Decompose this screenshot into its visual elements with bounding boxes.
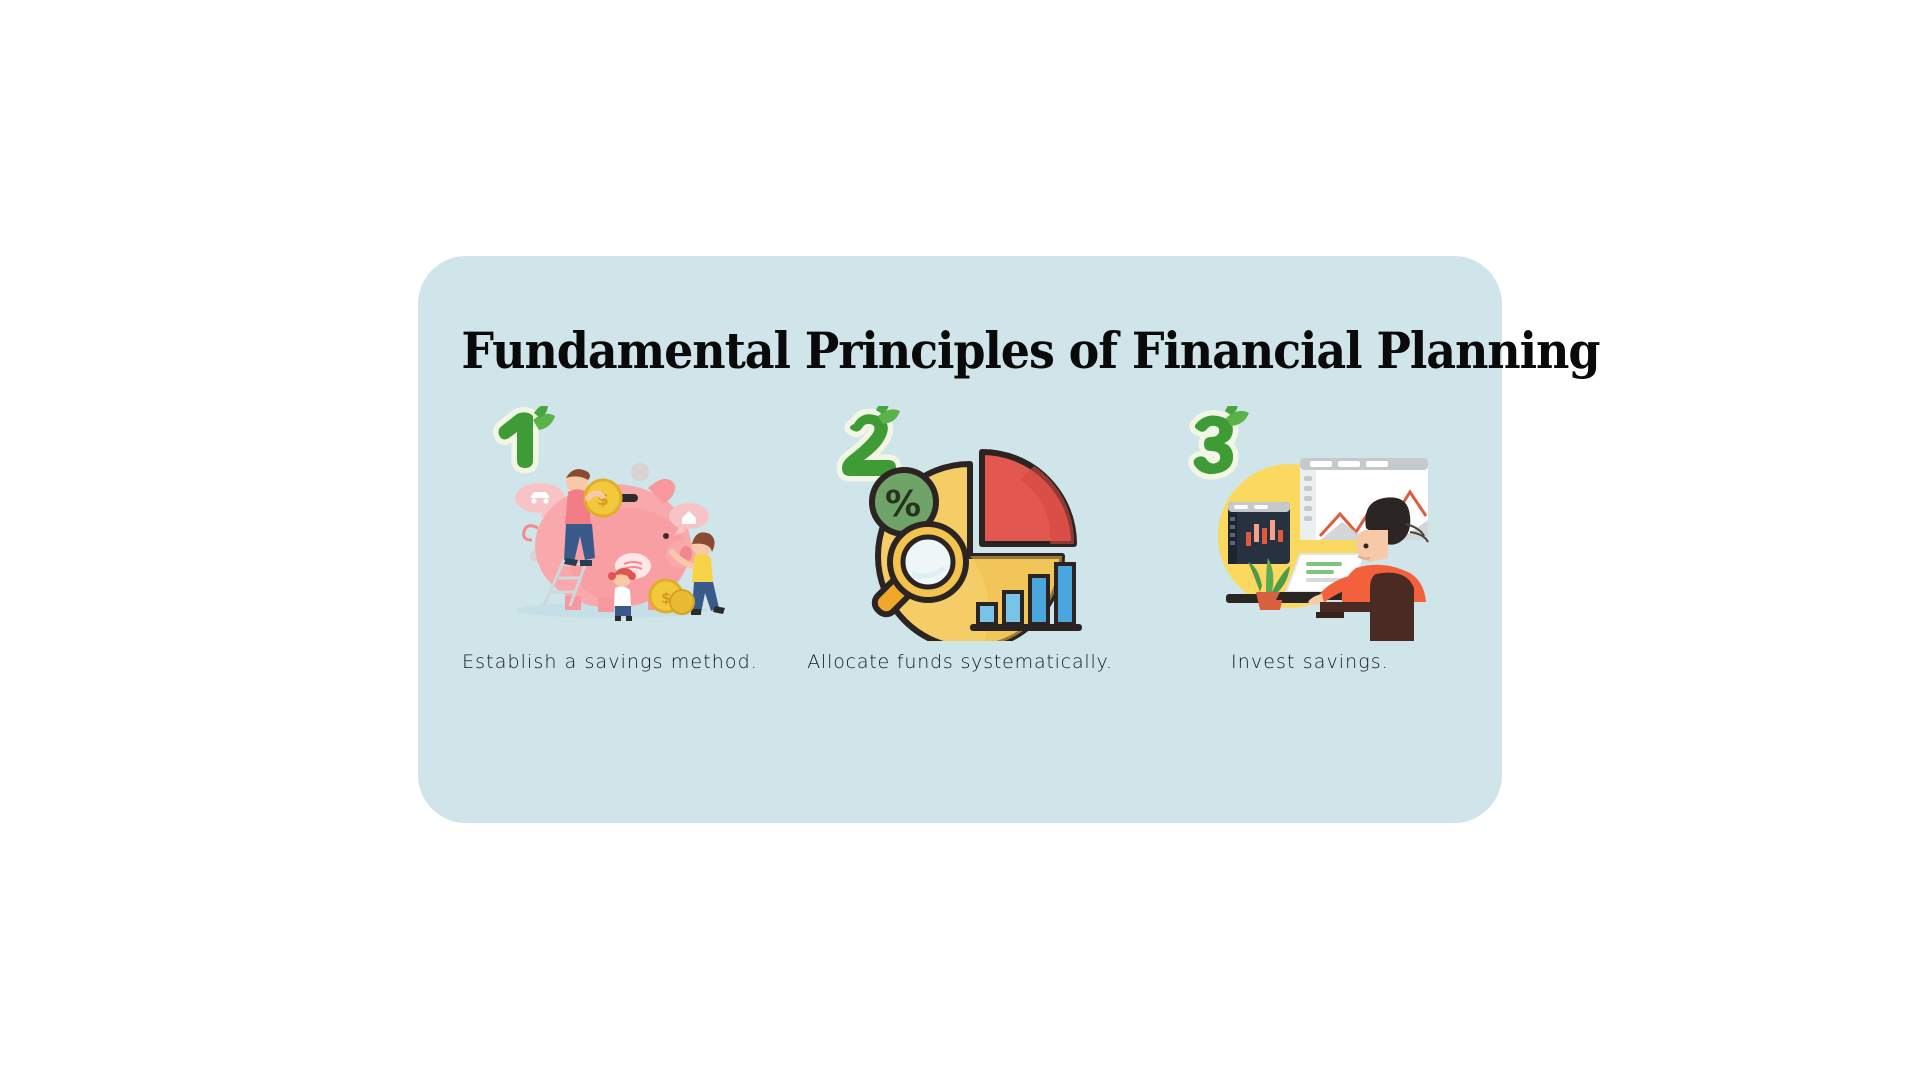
step-caption-1: Establish a savings method. <box>462 651 758 673</box>
coins-stack: $ <box>650 580 694 614</box>
infographic-card: Fundamental Principles of Financial Plan… <box>418 256 1502 823</box>
svg-text:%: % <box>885 484 921 525</box>
step-number-badge-2 <box>842 406 900 476</box>
step-item-3: Invest savings. <box>1136 406 1484 673</box>
steps-row: % <box>418 406 1502 796</box>
step-caption-3: Invest savings. <box>1231 651 1389 673</box>
step-item-2: % <box>786 406 1134 673</box>
piggy-bank-savings-illustration: % <box>470 406 750 641</box>
step-number-badge-3 <box>1194 406 1249 474</box>
step-caption-2: Allocate funds systematically. <box>807 651 1113 673</box>
step-item-1: % <box>436 406 784 673</box>
infographic-canvas: Fundamental Principles of Financial Plan… <box>0 0 1920 1080</box>
page-title: Fundamental Principles of Financial Plan… <box>461 326 1458 376</box>
investor-at-desk-illustration <box>1170 406 1450 641</box>
step-number-badge-1 <box>499 406 556 468</box>
pie-chart-magnifier-bars-illustration: % <box>820 406 1100 641</box>
candlestick-chart-window <box>1228 502 1290 564</box>
